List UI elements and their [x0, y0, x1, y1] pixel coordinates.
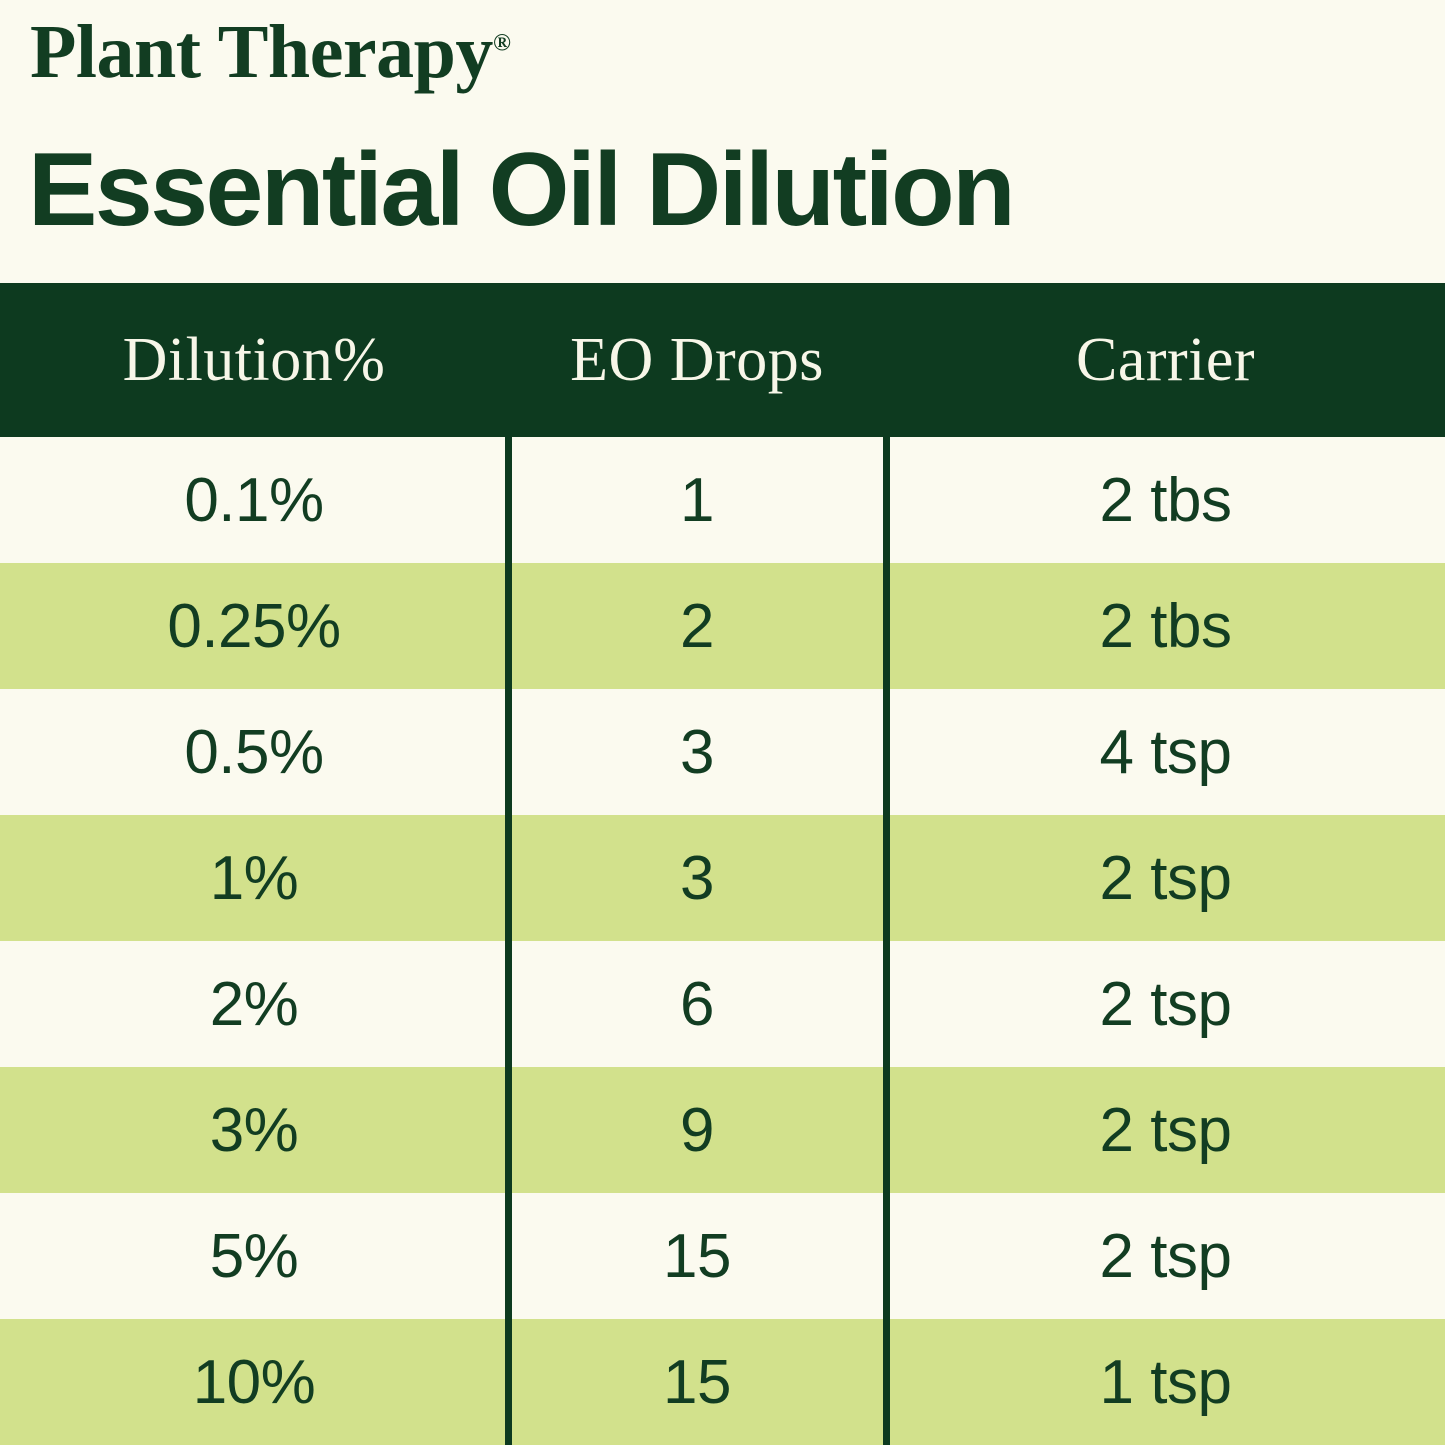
cell-eo-drops: 1: [508, 437, 886, 563]
brand-name: Plant Therapy: [30, 10, 493, 94]
cell-eo-drops: 15: [508, 1193, 886, 1319]
cell-dilution: 0.5%: [0, 689, 508, 815]
page-title: Essential Oil Dilution: [28, 132, 1013, 248]
branding-header: Plant Therapy® Essential Oil Dilution: [0, 0, 1445, 283]
dilution-table: Dilution% EO Drops Carrier 0.1% 1 2 tbs …: [0, 283, 1445, 1445]
cell-dilution: 1%: [0, 815, 508, 941]
cell-carrier: 2 tsp: [886, 1193, 1445, 1319]
table-row: 5% 15 2 tsp: [0, 1193, 1445, 1319]
column-header-carrier: Carrier: [886, 283, 1445, 437]
cell-carrier: 2 tsp: [886, 815, 1445, 941]
cell-eo-drops: 3: [508, 689, 886, 815]
cell-dilution: 0.25%: [0, 563, 508, 689]
registered-trademark-icon: ®: [493, 31, 511, 57]
cell-eo-drops: 9: [508, 1067, 886, 1193]
cell-carrier: 2 tbs: [886, 563, 1445, 689]
table-row: 0.5% 3 4 tsp: [0, 689, 1445, 815]
column-header-dilution: Dilution%: [0, 283, 508, 437]
cell-dilution: 5%: [0, 1193, 508, 1319]
dilution-chart-page: Plant Therapy® Essential Oil Dilution Di…: [0, 0, 1445, 1445]
cell-eo-drops: 15: [508, 1319, 886, 1445]
table-row: 2% 6 2 tsp: [0, 941, 1445, 1067]
brand-logo: Plant Therapy®: [30, 14, 511, 90]
table-row: 0.25% 2 2 tbs: [0, 563, 1445, 689]
cell-carrier: 2 tbs: [886, 437, 1445, 563]
table-row: 0.1% 1 2 tbs: [0, 437, 1445, 563]
table-header-row: Dilution% EO Drops Carrier: [0, 283, 1445, 437]
table-body: 0.1% 1 2 tbs 0.25% 2 2 tbs 0.5% 3 4 tsp …: [0, 437, 1445, 1445]
cell-eo-drops: 2: [508, 563, 886, 689]
cell-dilution: 10%: [0, 1319, 508, 1445]
cell-eo-drops: 3: [508, 815, 886, 941]
cell-dilution: 3%: [0, 1067, 508, 1193]
cell-carrier: 2 tsp: [886, 1067, 1445, 1193]
column-header-eo-drops: EO Drops: [508, 283, 886, 437]
table-row: 3% 9 2 tsp: [0, 1067, 1445, 1193]
table-row: 1% 3 2 tsp: [0, 815, 1445, 941]
cell-dilution: 0.1%: [0, 437, 508, 563]
cell-carrier: 4 tsp: [886, 689, 1445, 815]
cell-carrier: 2 tsp: [886, 941, 1445, 1067]
cell-dilution: 2%: [0, 941, 508, 1067]
cell-eo-drops: 6: [508, 941, 886, 1067]
table-row: 10% 15 1 tsp: [0, 1319, 1445, 1445]
cell-carrier: 1 tsp: [886, 1319, 1445, 1445]
